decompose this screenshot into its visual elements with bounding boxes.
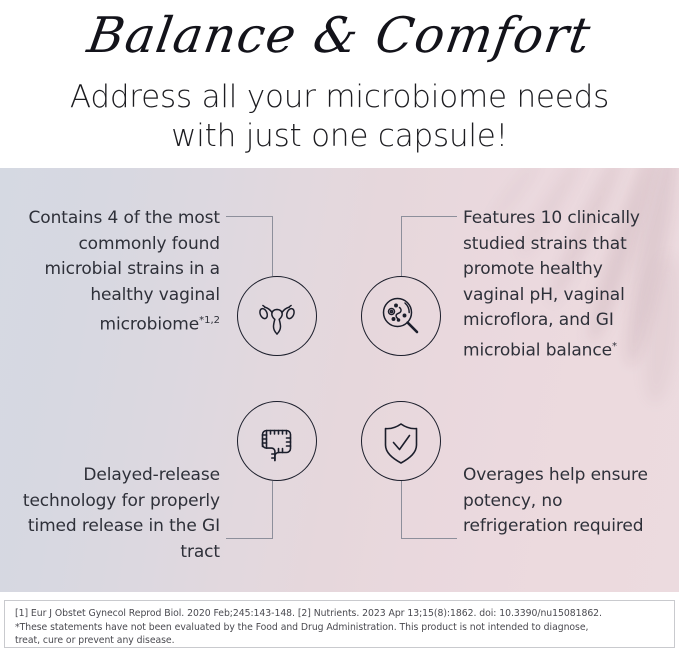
script-title: Balance & Comfort	[0, 2, 679, 70]
feature-icon-circle-top-right	[361, 276, 441, 356]
footnote-box: [1] Eur J Obstet Gynecol Reprod Biol. 20…	[4, 600, 675, 648]
intestine-icon	[250, 414, 304, 468]
connector-line-bottom-left	[272, 481, 273, 539]
connector-line-bottom-left	[226, 538, 273, 539]
feature-text-bottom-right: Overages help ensure potency, no refrige…	[463, 463, 668, 540]
feature-text-body: Delayed-release technology for properly …	[23, 465, 220, 562]
feature-text-body: Overages help ensure potency, no refrige…	[463, 465, 648, 536]
connector-line-top-left	[272, 216, 273, 276]
connector-line-top-right	[401, 216, 402, 276]
uterus-icon	[250, 289, 304, 343]
header-banner: Balance & Comfort Address all your micro…	[0, 0, 679, 168]
feature-text-superscript: *	[612, 341, 617, 352]
feature-text-top-left: Contains 4 of the most commonly found mi…	[8, 206, 220, 338]
shield-check-icon	[374, 414, 428, 468]
headline-line-1: Address all your microbiome needs	[0, 78, 679, 117]
connector-line-top-left	[226, 216, 273, 217]
feature-text-bottom-left: Delayed-release technology for properly …	[8, 463, 220, 565]
connector-line-bottom-right	[401, 481, 402, 539]
feature-text-body: Features 10 clinically studied strains t…	[463, 208, 640, 360]
connector-line-top-right	[401, 216, 457, 217]
feature-text-superscript: *1,2	[199, 315, 220, 326]
feature-icon-circle-top-left	[237, 276, 317, 356]
feature-icon-circle-bottom-right	[361, 401, 441, 481]
page-headline: Address all your microbiome needs with j…	[0, 78, 679, 156]
feature-text-body: Contains 4 of the most commonly found mi…	[29, 208, 220, 335]
connector-line-bottom-right	[401, 538, 457, 539]
footnote-line-1: [1] Eur J Obstet Gynecol Reprod Biol. 20…	[15, 607, 664, 621]
feature-text-top-right: Features 10 clinically studied strains t…	[463, 206, 668, 364]
headline-line-2: with just one capsule!	[0, 117, 679, 156]
microbes-magnifier-icon	[374, 289, 428, 343]
feature-icon-circle-bottom-left	[237, 401, 317, 481]
footnote-line-3: treat, cure or prevent any disease.	[15, 634, 664, 648]
footnote-line-2: *These statements have not been evaluate…	[15, 621, 664, 635]
